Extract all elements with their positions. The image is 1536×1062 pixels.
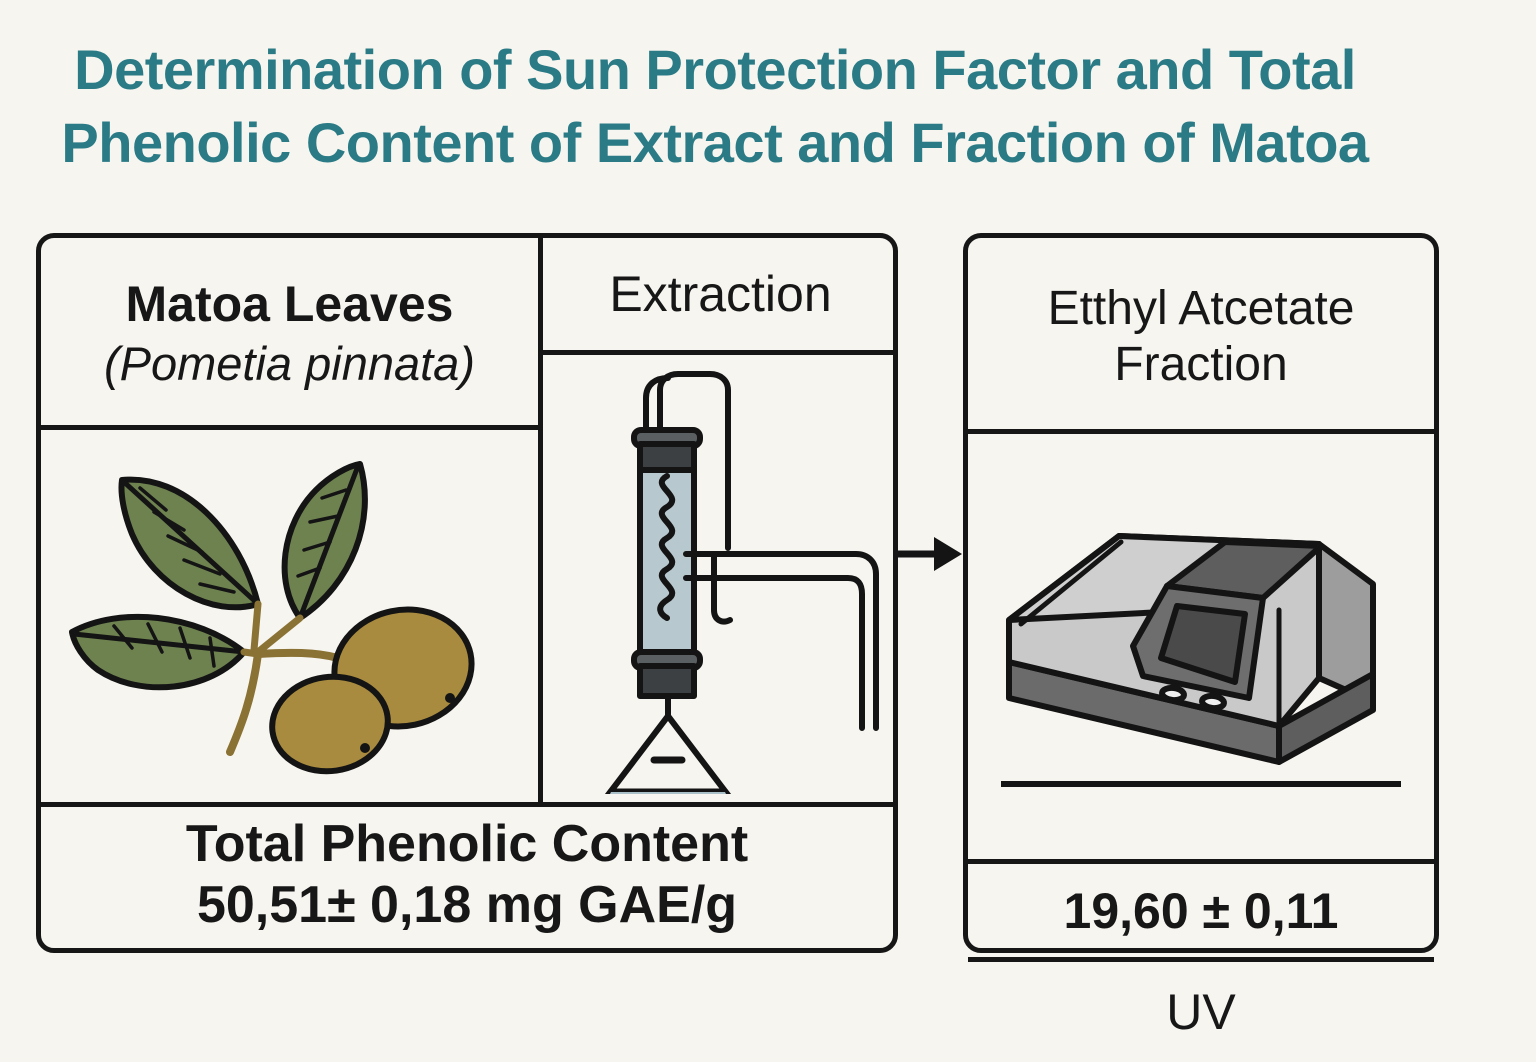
fraction-label-line-1: Etthyl Atcetate bbox=[1048, 281, 1355, 337]
spf-value: 19,60 ± 0,11 bbox=[1064, 882, 1339, 940]
sample-header: Matoa Leaves (Pometia pinnata) bbox=[41, 238, 538, 425]
title-line-2: Phenolic Content of Extract and Fraction… bbox=[0, 107, 1430, 180]
process-label: Extraction bbox=[609, 265, 831, 323]
plant-illustration-cell bbox=[41, 430, 538, 802]
sample-name-label: Matoa Leaves bbox=[126, 277, 454, 331]
right-panel: Etthyl Atcetate Fraction bbox=[963, 233, 1439, 953]
title-line-1: Determination of Sun Protection Factor a… bbox=[0, 34, 1430, 107]
method-label: UV bbox=[1166, 983, 1235, 1041]
total-phenolic-content-cell: Total Phenolic Content 50,51± 0,18 mg GA… bbox=[41, 807, 893, 948]
matoa-leaves-and-fruit-icon bbox=[62, 436, 517, 796]
apparatus-illustration-cell bbox=[543, 355, 898, 802]
page-title: Determination of Sun Protection Factor a… bbox=[0, 34, 1430, 180]
fraction-label-line-2: Fraction bbox=[1114, 337, 1287, 393]
sample-binomial-label: (Pometia pinnata) bbox=[104, 337, 475, 391]
result-label: Total Phenolic Content bbox=[186, 815, 748, 873]
spf-value-cell: 19,60 ± 0,11 bbox=[968, 864, 1434, 957]
result-value: 50,51± 0,18 mg GAE/g bbox=[197, 876, 737, 934]
process-header: Extraction bbox=[543, 238, 898, 350]
right-arrow-icon bbox=[898, 533, 964, 575]
uv-vis-spectrophotometer-icon bbox=[1001, 502, 1401, 792]
method-cell: UV bbox=[968, 962, 1434, 1062]
fraction-header: Etthyl Atcetate Fraction bbox=[968, 238, 1434, 429]
flow-arrow bbox=[898, 533, 964, 575]
left-panel: Matoa Leaves (Pometia pinnata) Extractio… bbox=[36, 233, 898, 953]
distillation-flask-icon bbox=[556, 364, 886, 794]
instrument-illustration-cell bbox=[968, 434, 1434, 859]
